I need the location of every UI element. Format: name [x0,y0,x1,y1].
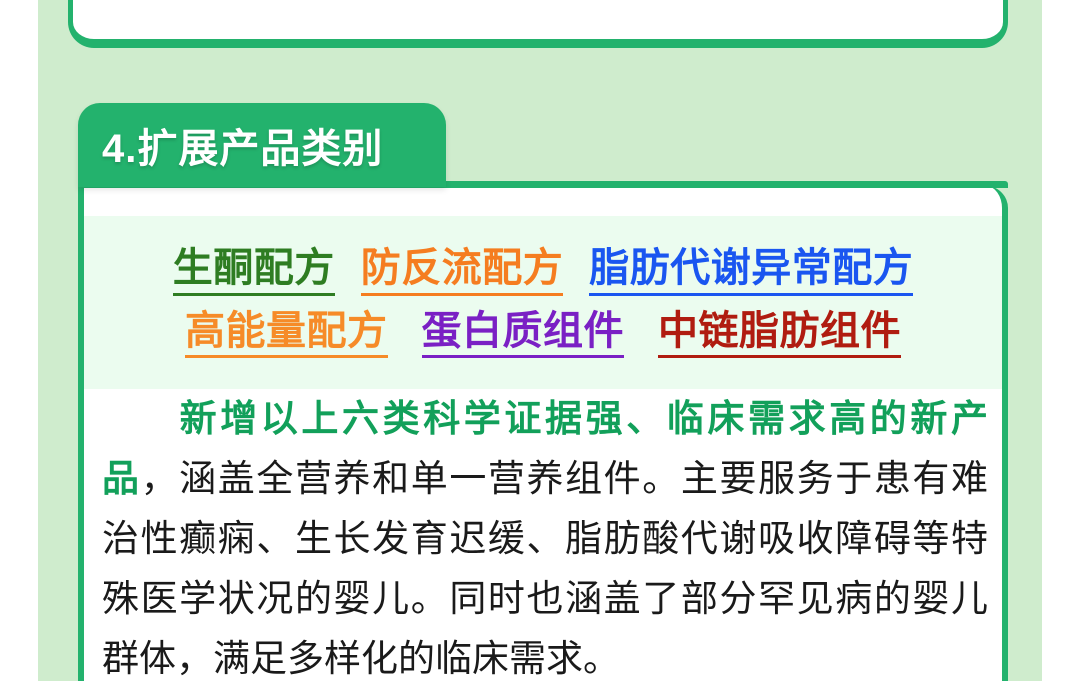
section-4: 4.扩展产品类别 生酮配方 防反流配方 脂肪代谢异常配方 高能量配方 蛋白质组件… [78,103,1008,681]
product-category-anti-reflux: 防反流配方 [361,247,564,295]
section-title: 4.扩展产品类别 [102,116,383,174]
product-category-high-energy: 高能量配方 [185,310,388,358]
page-root: 4.扩展产品类别 生酮配方 防反流配方 脂肪代谢异常配方 高能量配方 蛋白质组件… [0,0,1080,681]
product-category-row-1: 生酮配方 防反流配方 脂肪代谢异常配方 [110,247,976,295]
product-category-mct-module: 中链脂肪组件 [658,310,901,358]
paragraph-body-text: ，涵盖全营养和单一营养组件。主要服务于患有难治性癫痫、生长发育迟缓、脂肪酸代谢吸… [102,458,988,679]
product-category-protein-module: 蛋白质组件 [422,310,625,358]
section-body-card: 生酮配方 防反流配方 脂肪代谢异常配方 高能量配方 蛋白质组件 中链脂肪组件 新… [78,186,1008,681]
section-paragraph: 新增以上六类科学证据强、临床需求高的新产品，涵盖全营养和单一营养组件。主要服务于… [102,389,988,681]
product-category-fat-metabolism-disorder: 脂肪代谢异常配方 [589,247,913,295]
product-category-ketogenic: 生酮配方 [173,247,335,295]
product-category-panel: 生酮配方 防反流配方 脂肪代谢异常配方 高能量配方 蛋白质组件 中链脂肪组件 [84,216,1002,389]
product-category-row-2: 高能量配方 蛋白质组件 中链脂肪组件 [110,310,976,358]
section-header-tab: 4.扩展产品类别 [78,103,446,187]
previous-section-card [68,0,1008,48]
